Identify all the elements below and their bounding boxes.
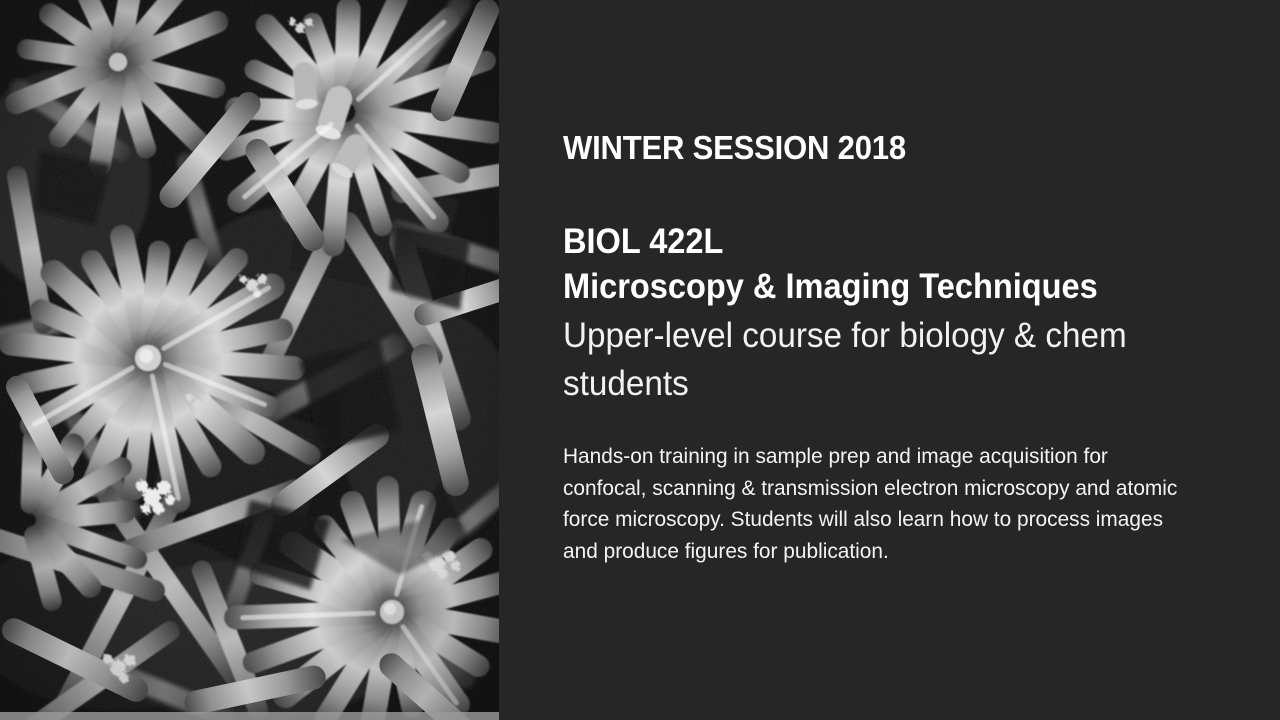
course-heading-block: BIOL 422L Microscopy & Imaging Technique…	[563, 219, 1263, 309]
micrograph-bottom-band	[0, 712, 499, 720]
sem-micrograph-canvas	[0, 0, 499, 720]
slide-root: WINTER SESSION 2018 BIOL 422L Microscopy…	[0, 0, 1280, 720]
course-audience: Upper-level course for biology & chem st…	[563, 312, 1171, 408]
session-title: WINTER SESSION 2018	[563, 129, 906, 167]
sem-micrograph	[0, 0, 499, 720]
course-code: BIOL 422L	[563, 219, 1214, 264]
text-panel: WINTER SESSION 2018 BIOL 422L Microscopy…	[499, 0, 1280, 720]
course-name: Microscopy & Imaging Techniques	[563, 264, 1214, 309]
micrograph-vignette	[0, 0, 499, 720]
course-description: Hands-on training in sample prep and ima…	[563, 441, 1189, 567]
